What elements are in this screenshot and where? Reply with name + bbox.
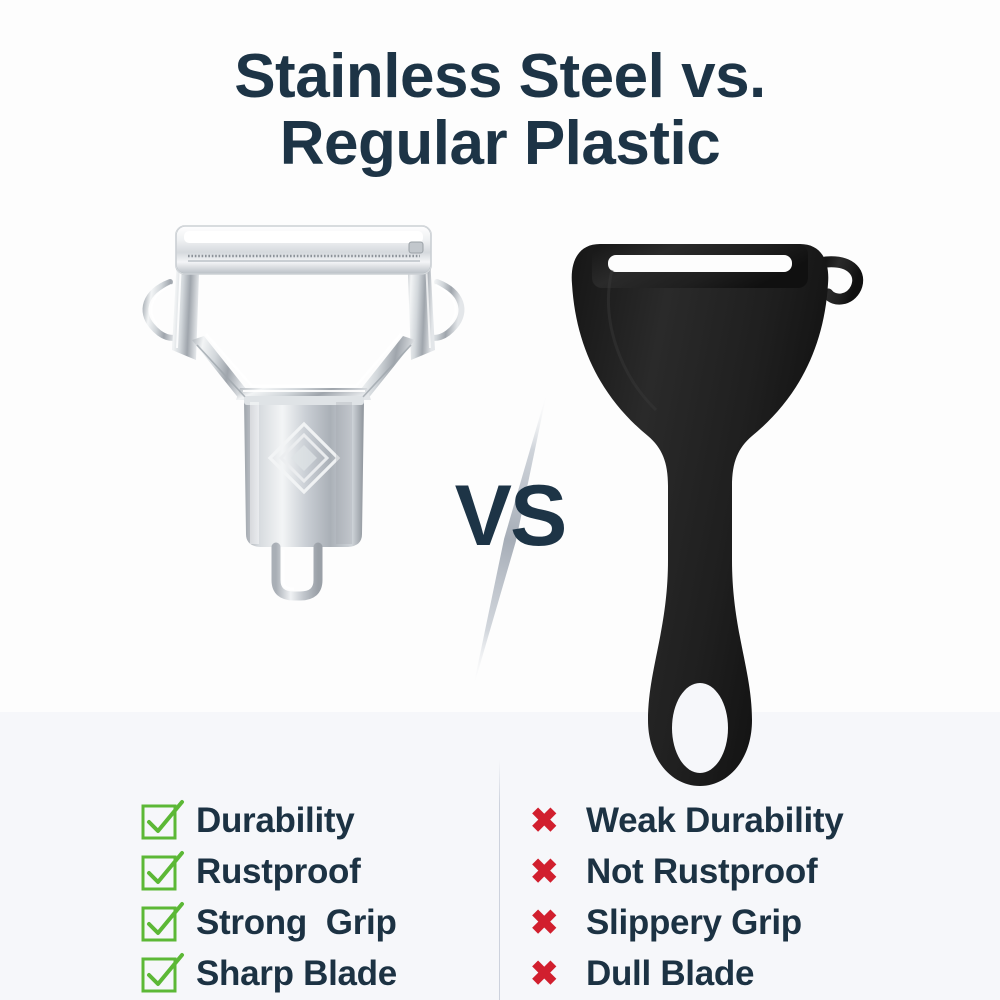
vs-divider: VS: [425, 395, 595, 685]
cross-icon: ✖: [530, 906, 574, 940]
check-box-icon: [140, 800, 186, 842]
page-title-line-2: Regular Plastic: [0, 111, 1000, 178]
cons-column: ✖ Weak Durability ✖ Not Rustproof ✖ Slip…: [530, 795, 970, 999]
list-item: ✖ Weak Durability: [530, 795, 970, 846]
list-item: Rustproof: [140, 846, 500, 897]
regular-plastic-peeler-illustration: [572, 244, 858, 786]
cross-icon: ✖: [530, 855, 574, 889]
list-item: Sharp Blade: [140, 948, 500, 999]
list-item-label: Not Rustproof: [586, 852, 817, 892]
list-item-label: Dull Blade: [586, 954, 754, 994]
comparison-infographic: Stainless Steel vs. Regular Plastic: [0, 0, 1000, 1000]
cross-icon: ✖: [530, 804, 574, 838]
list-item-label: Durability: [196, 801, 354, 841]
page-title: Stainless Steel vs. Regular Plastic: [0, 44, 1000, 178]
pros-column: Durability Rustproof S: [140, 795, 500, 999]
list-item: Durability: [140, 795, 500, 846]
list-item: ✖ Slippery Grip: [530, 897, 970, 948]
vs-label: VS: [425, 473, 595, 559]
cross-icon: ✖: [530, 957, 574, 991]
list-item: ✖ Not Rustproof: [530, 846, 970, 897]
list-item-label: Sharp Blade: [196, 954, 397, 994]
page-title-line-1: Stainless Steel vs.: [0, 44, 1000, 111]
list-item: Strong Grip: [140, 897, 500, 948]
list-item-label: Weak Durability: [586, 801, 843, 841]
list-item-label: Slippery Grip: [586, 903, 802, 943]
stainless-steel-peeler-illustration: [146, 226, 462, 596]
comparison-lists: Durability Rustproof S: [0, 795, 1000, 1000]
check-box-icon: [140, 902, 186, 944]
list-item-label: Rustproof: [196, 852, 361, 892]
list-item-label: Strong Grip: [196, 903, 397, 943]
list-item: ✖ Dull Blade: [530, 948, 970, 999]
check-box-icon: [140, 851, 186, 893]
check-box-icon: [140, 953, 186, 995]
